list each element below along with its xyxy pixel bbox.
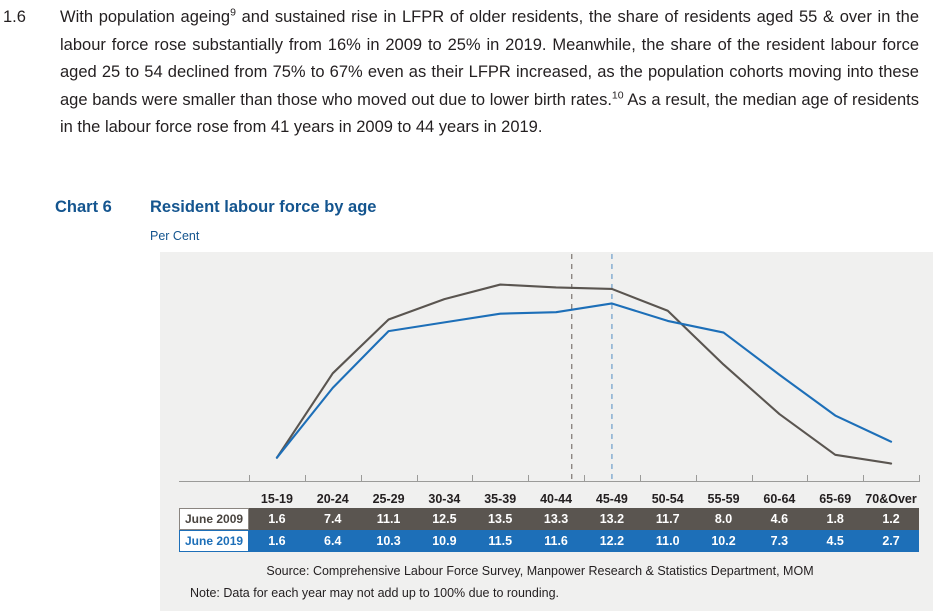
table-row-june-2019: June 2019 1.66.410.310.911.511.612.211.0… xyxy=(179,530,919,552)
cell-value: 12.2 xyxy=(584,534,640,548)
axis-tick xyxy=(807,475,808,482)
axis-tick xyxy=(417,475,418,482)
chart-note-text: Note: Data for each year may not add up … xyxy=(190,586,559,600)
cell-value: 11.0 xyxy=(640,534,696,548)
table-row-june-2009: June 2009 1.67.411.112.513.513.313.211.7… xyxy=(179,508,919,530)
cell-value: 13.5 xyxy=(472,512,528,526)
series-line-june-2009 xyxy=(277,285,891,464)
cell-value: 13.2 xyxy=(584,512,640,526)
chart-title: Resident labour force by age xyxy=(150,198,376,217)
axis-category-65-69: 65-69 xyxy=(807,492,863,506)
axis-category-45-49: 45-49 xyxy=(584,492,640,506)
cell-value: 6.4 xyxy=(305,534,361,548)
chart-subtitle-units: Per Cent xyxy=(150,229,199,243)
cell-value: 2.7 xyxy=(863,534,919,548)
cell-value: 1.6 xyxy=(249,534,305,548)
paragraph-number: 1.6 xyxy=(0,4,60,32)
axis-tick xyxy=(919,475,920,482)
chart-panel: Median Age in June 2009 = 41 Years Media… xyxy=(160,252,933,611)
cell-value: 11.5 xyxy=(472,534,528,548)
axis-category-60-64: 60-64 xyxy=(751,492,807,506)
cell-value: 11.1 xyxy=(361,512,417,526)
cell-value: 1.2 xyxy=(863,512,919,526)
cell-value: 10.9 xyxy=(416,534,472,548)
cell-value: 4.6 xyxy=(751,512,807,526)
axis-category-15-19: 15-19 xyxy=(249,492,305,506)
cell-value: 13.3 xyxy=(528,512,584,526)
axis-category-30-34: 30-34 xyxy=(416,492,472,506)
chart-heading: Chart 6 Resident labour force by age xyxy=(55,198,376,217)
paragraph-text: With population ageing9 and sustained ri… xyxy=(60,4,933,142)
axis-tick xyxy=(863,475,864,482)
line-chart-svg xyxy=(160,252,933,484)
axis-category-55-59: 55-59 xyxy=(696,492,752,506)
cell-value: 8.0 xyxy=(696,512,752,526)
cell-value: 12.5 xyxy=(416,512,472,526)
axis-tick xyxy=(249,475,250,482)
axis-tick xyxy=(305,475,306,482)
axis-tick xyxy=(752,475,753,482)
chart-number-label: Chart 6 xyxy=(55,198,150,217)
axis-category-70-over: 70&Over xyxy=(863,492,919,506)
cell-value: 10.2 xyxy=(696,534,752,548)
axis-category-50-54: 50-54 xyxy=(640,492,696,506)
row-label-june-2019: June 2019 xyxy=(179,530,249,552)
paragraph-part-1: With population ageing xyxy=(60,8,230,26)
cell-value: 1.8 xyxy=(807,512,863,526)
chart-plot-area xyxy=(160,252,933,484)
cell-value: 11.6 xyxy=(528,534,584,548)
axis-tick xyxy=(361,475,362,482)
footnote-marker-10: 10 xyxy=(612,89,624,101)
cell-value: 7.3 xyxy=(751,534,807,548)
axis-category-25-29: 25-29 xyxy=(361,492,417,506)
axis-tick xyxy=(528,475,529,482)
axis-category-20-24: 20-24 xyxy=(305,492,361,506)
axis-category-35-39: 35-39 xyxy=(472,492,528,506)
x-axis-category-labels: 15-1920-2425-2930-3435-3940-4445-4950-54… xyxy=(179,484,919,506)
paragraph-block: 1.6 With population ageing9 and sustaine… xyxy=(0,4,933,142)
cell-value: 7.4 xyxy=(305,512,361,526)
row-label-june-2009: June 2009 xyxy=(179,508,249,530)
series-line-june-2019 xyxy=(277,303,891,457)
cell-value: 4.5 xyxy=(807,534,863,548)
cell-value: 1.6 xyxy=(249,512,305,526)
cell-value: 10.3 xyxy=(361,534,417,548)
axis-tick xyxy=(472,475,473,482)
chart-source-text: Source: Comprehensive Labour Force Surve… xyxy=(160,564,920,578)
axis-tick xyxy=(584,475,585,482)
axis-tick xyxy=(640,475,641,482)
cell-value: 11.7 xyxy=(640,512,696,526)
axis-category-40-44: 40-44 xyxy=(528,492,584,506)
axis-tick xyxy=(696,475,697,482)
x-axis-ticks xyxy=(179,475,919,482)
